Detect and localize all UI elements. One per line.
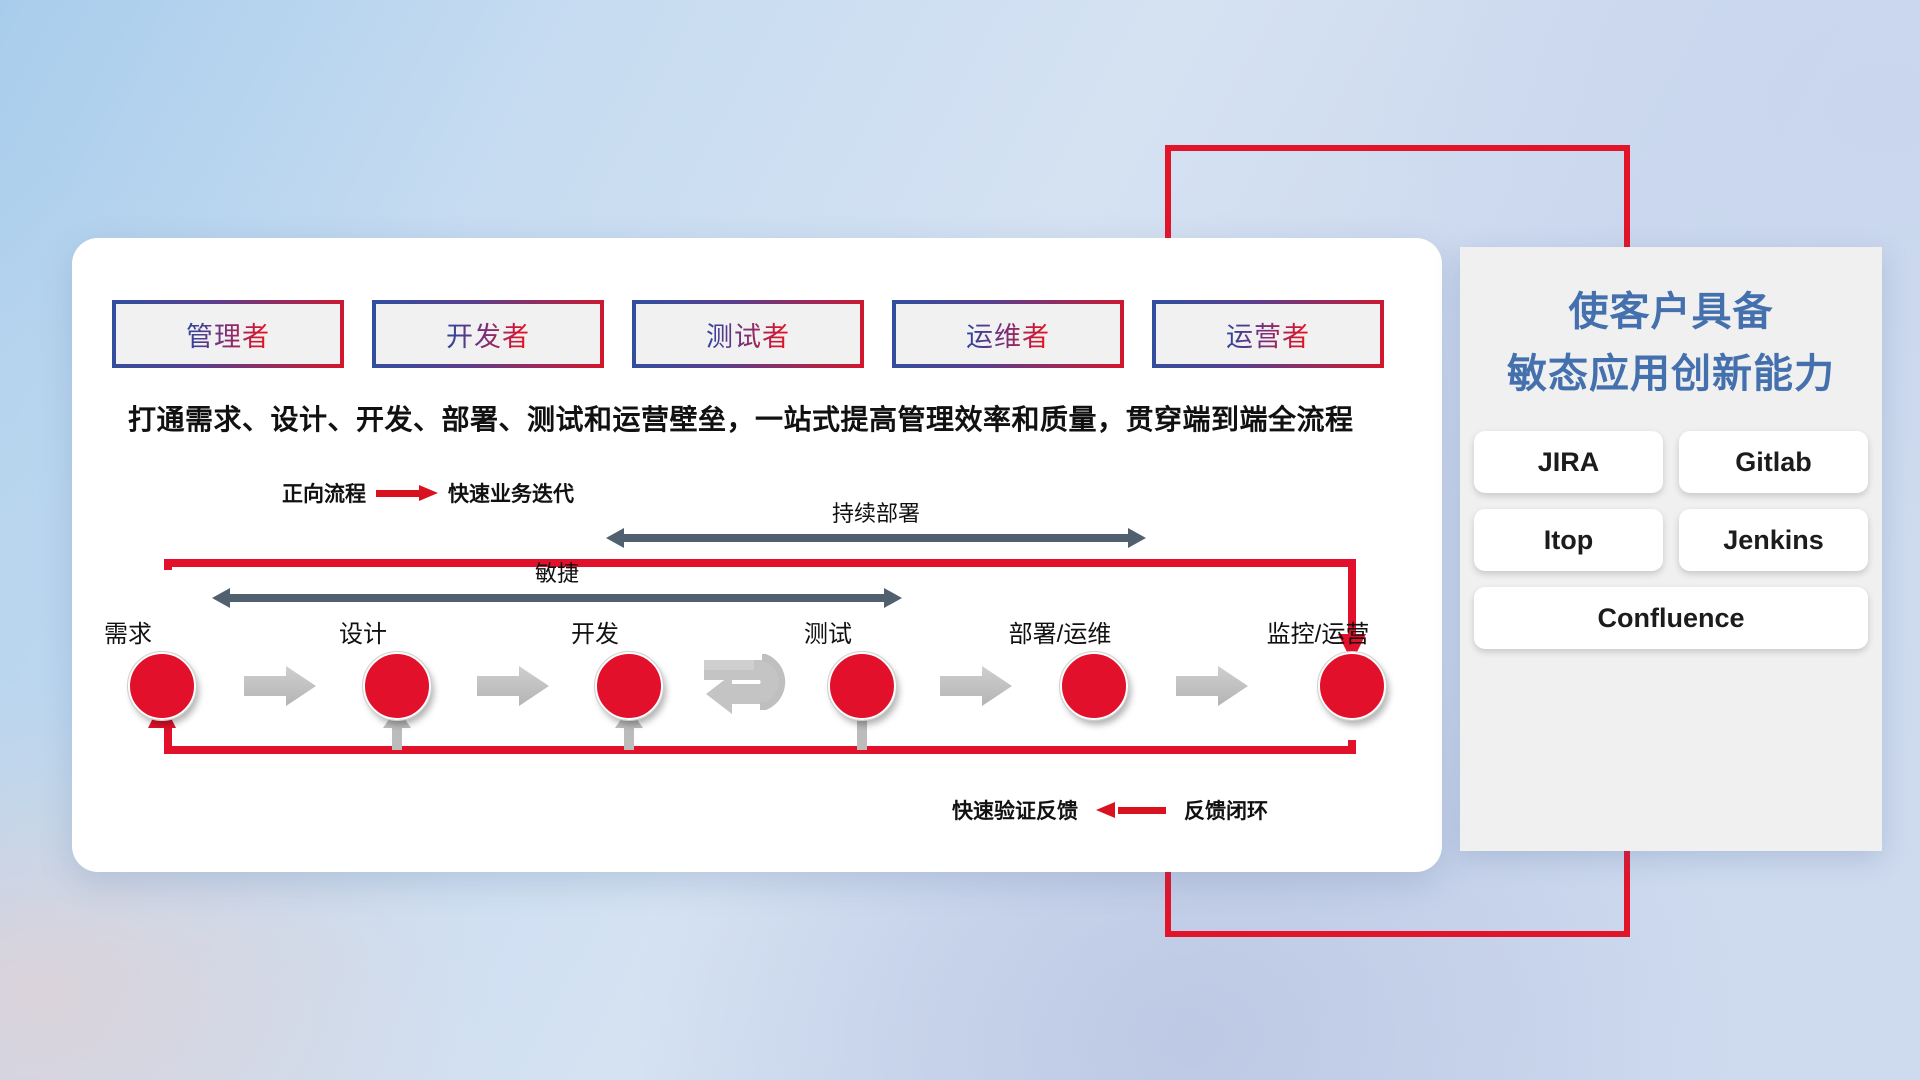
pipeline-node-label: 设计 <box>339 614 387 649</box>
pipeline-node-dot <box>363 652 431 720</box>
feedback-closed-loop-label: 反馈闭环 <box>1184 795 1268 825</box>
pipeline-node-dot <box>595 652 663 720</box>
tool-panel: 使客户具备 敏态应用创新能力 JIRA Gitlab Itop Jenkins … <box>1460 247 1882 851</box>
pipeline-node-dot <box>1060 652 1128 720</box>
panel-headline-line1: 使客户具备 <box>1460 281 1882 343</box>
arrow-bar <box>622 534 1130 542</box>
tool-chip-gitlab[interactable]: Gitlab <box>1679 431 1868 493</box>
role-label: 开发者 <box>446 315 530 354</box>
pipeline-node-label: 需求 <box>104 614 152 649</box>
tool-chip-jenkins[interactable]: Jenkins <box>1679 509 1868 571</box>
role-chip-tester[interactable]: 测试者 <box>632 300 864 368</box>
role-chip-developer[interactable]: 开发者 <box>372 300 604 368</box>
forward-flow-legend: 正向流程 快速业务迭代 <box>282 478 574 508</box>
gray-arrow-icon <box>244 664 318 708</box>
role-label: 测试者 <box>706 315 790 354</box>
role-chip-row: 管理者 开发者 测试者 运维者 运营者 <box>112 300 1384 368</box>
arrow-left-red-icon <box>1096 802 1166 818</box>
gray-arrow-icon <box>1176 664 1250 708</box>
pipeline-node-dot <box>1318 652 1386 720</box>
pipeline-node-label: 测试 <box>804 614 852 649</box>
role-label: 运营者 <box>1226 315 1310 354</box>
feedback-loop-legend: 快速验证反馈 反馈闭环 <box>952 795 1268 825</box>
panel-headline-line2: 敏态应用创新能力 <box>1460 343 1882 405</box>
pipeline-node-label: 监控/运营 <box>1267 614 1370 649</box>
fast-iteration-label: 快速业务迭代 <box>448 478 574 508</box>
role-label: 运维者 <box>966 315 1050 354</box>
arrow-right-tip-icon <box>884 588 902 608</box>
role-chip-operations[interactable]: 运营者 <box>1152 300 1384 368</box>
description-text: 打通需求、设计、开发、部署、测试和运营壁垒，一站式提高管理效率和质量，贯穿端到端… <box>128 398 1354 438</box>
continuous-deployment-span-arrow <box>606 528 1146 548</box>
tool-chip-grid: JIRA Gitlab Itop Jenkins Confluence <box>1460 431 1882 649</box>
arrow-right-red-icon <box>376 485 438 501</box>
arrow-right-tip-icon <box>1128 528 1146 548</box>
agile-label: 敏捷 <box>212 556 902 588</box>
fast-validation-label: 快速验证反馈 <box>952 795 1078 825</box>
pipeline-node-label: 部署/运维 <box>1009 614 1112 649</box>
role-chip-ops[interactable]: 运维者 <box>892 300 1124 368</box>
arrow-bar <box>228 594 886 602</box>
agile-span-arrow <box>212 588 902 608</box>
role-label: 管理者 <box>186 315 270 354</box>
gray-arrow-icon <box>940 664 1014 708</box>
pipeline-node-dot <box>828 652 896 720</box>
continuous-deployment-label: 持续部署 <box>606 496 1146 528</box>
pipeline-node-dot <box>128 652 196 720</box>
pipeline-row: 需求 设计 开发 测试 部署/运维 监控/运营 <box>0 620 1920 740</box>
tool-chip-itop[interactable]: Itop <box>1474 509 1663 571</box>
gray-arrow-icon <box>477 664 551 708</box>
panel-headline: 使客户具备 敏态应用创新能力 <box>1460 247 1882 405</box>
loop-back-arrow-icon <box>702 646 812 722</box>
role-chip-manager[interactable]: 管理者 <box>112 300 344 368</box>
tool-chip-jira[interactable]: JIRA <box>1474 431 1663 493</box>
forward-flow-label: 正向流程 <box>282 478 366 508</box>
pipeline-node-label: 开发 <box>571 614 619 649</box>
